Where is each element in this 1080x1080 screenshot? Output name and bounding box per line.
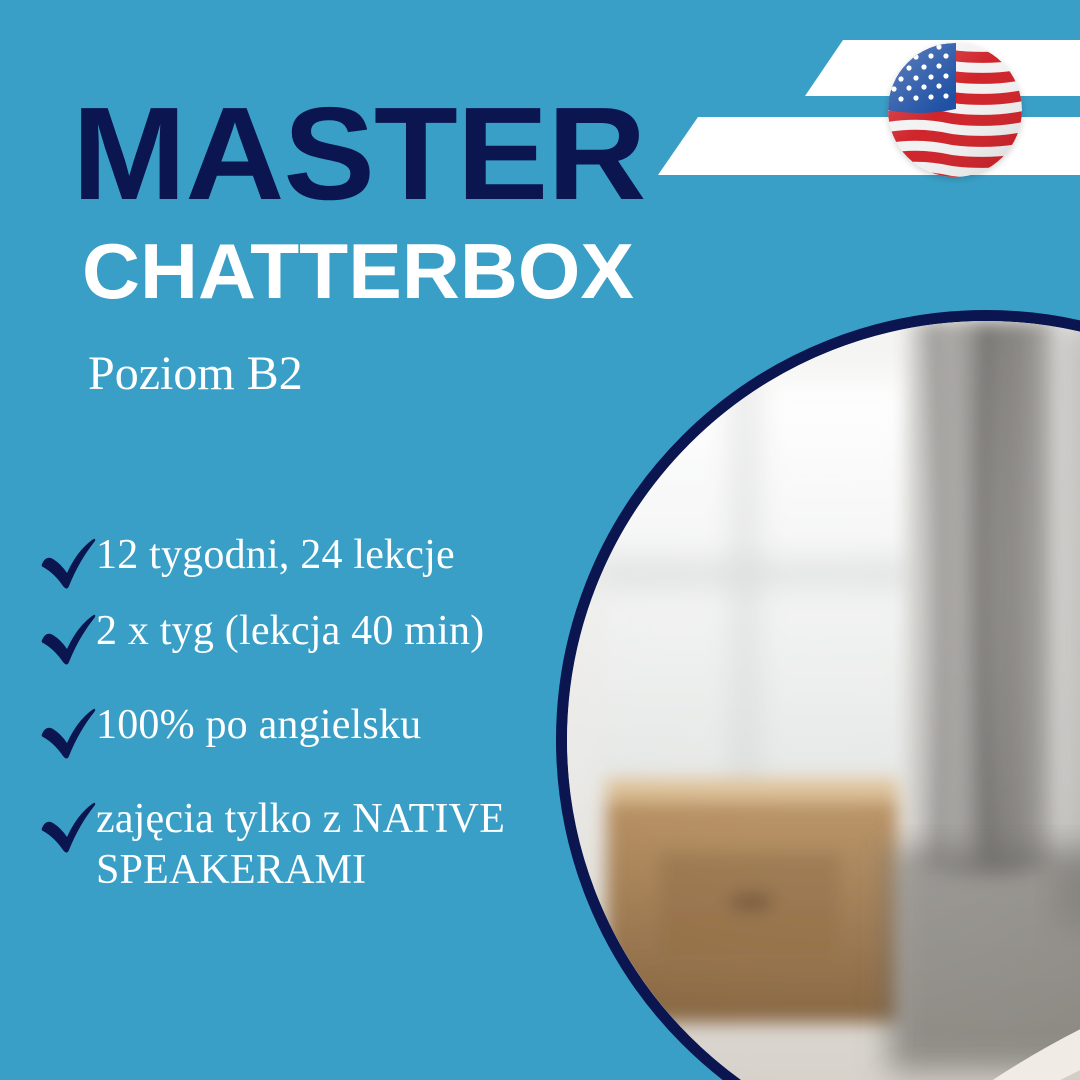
- check-icon: [38, 536, 96, 590]
- usa-flag-circle-icon: [888, 43, 1022, 177]
- check-icon: [38, 706, 96, 760]
- feature-list: 12 tygodni, 24 lekcje 2 x tyg (lekcja 40…: [38, 530, 558, 912]
- list-item: 12 tygodni, 24 lekcje: [38, 530, 558, 590]
- hero-photo-circle: [556, 310, 1080, 1080]
- page-title-master: MASTER: [72, 88, 645, 220]
- feature-text: 100% po angielsku: [96, 700, 421, 751]
- list-item: 100% po angielsku: [38, 700, 558, 760]
- check-icon: [38, 612, 96, 666]
- feature-text: zajęcia tylko z NATIVE SPEAKERAMI: [96, 794, 558, 896]
- promo-poster: MASTER CHATTERBOX Poziom B2: [0, 0, 1080, 1080]
- feature-text: 2 x tyg (lekcja 40 min): [96, 606, 484, 657]
- course-level-subtitle: Poziom B2: [88, 350, 303, 398]
- page-title-chatterbox: CHATTERBOX: [82, 232, 634, 310]
- hero-photo: [567, 321, 1080, 1080]
- list-item: 2 x tyg (lekcja 40 min): [38, 606, 558, 666]
- check-icon: [38, 800, 96, 854]
- feature-text: 12 tygodni, 24 lekcje: [96, 530, 455, 581]
- list-item: zajęcia tylko z NATIVE SPEAKERAMI: [38, 794, 558, 896]
